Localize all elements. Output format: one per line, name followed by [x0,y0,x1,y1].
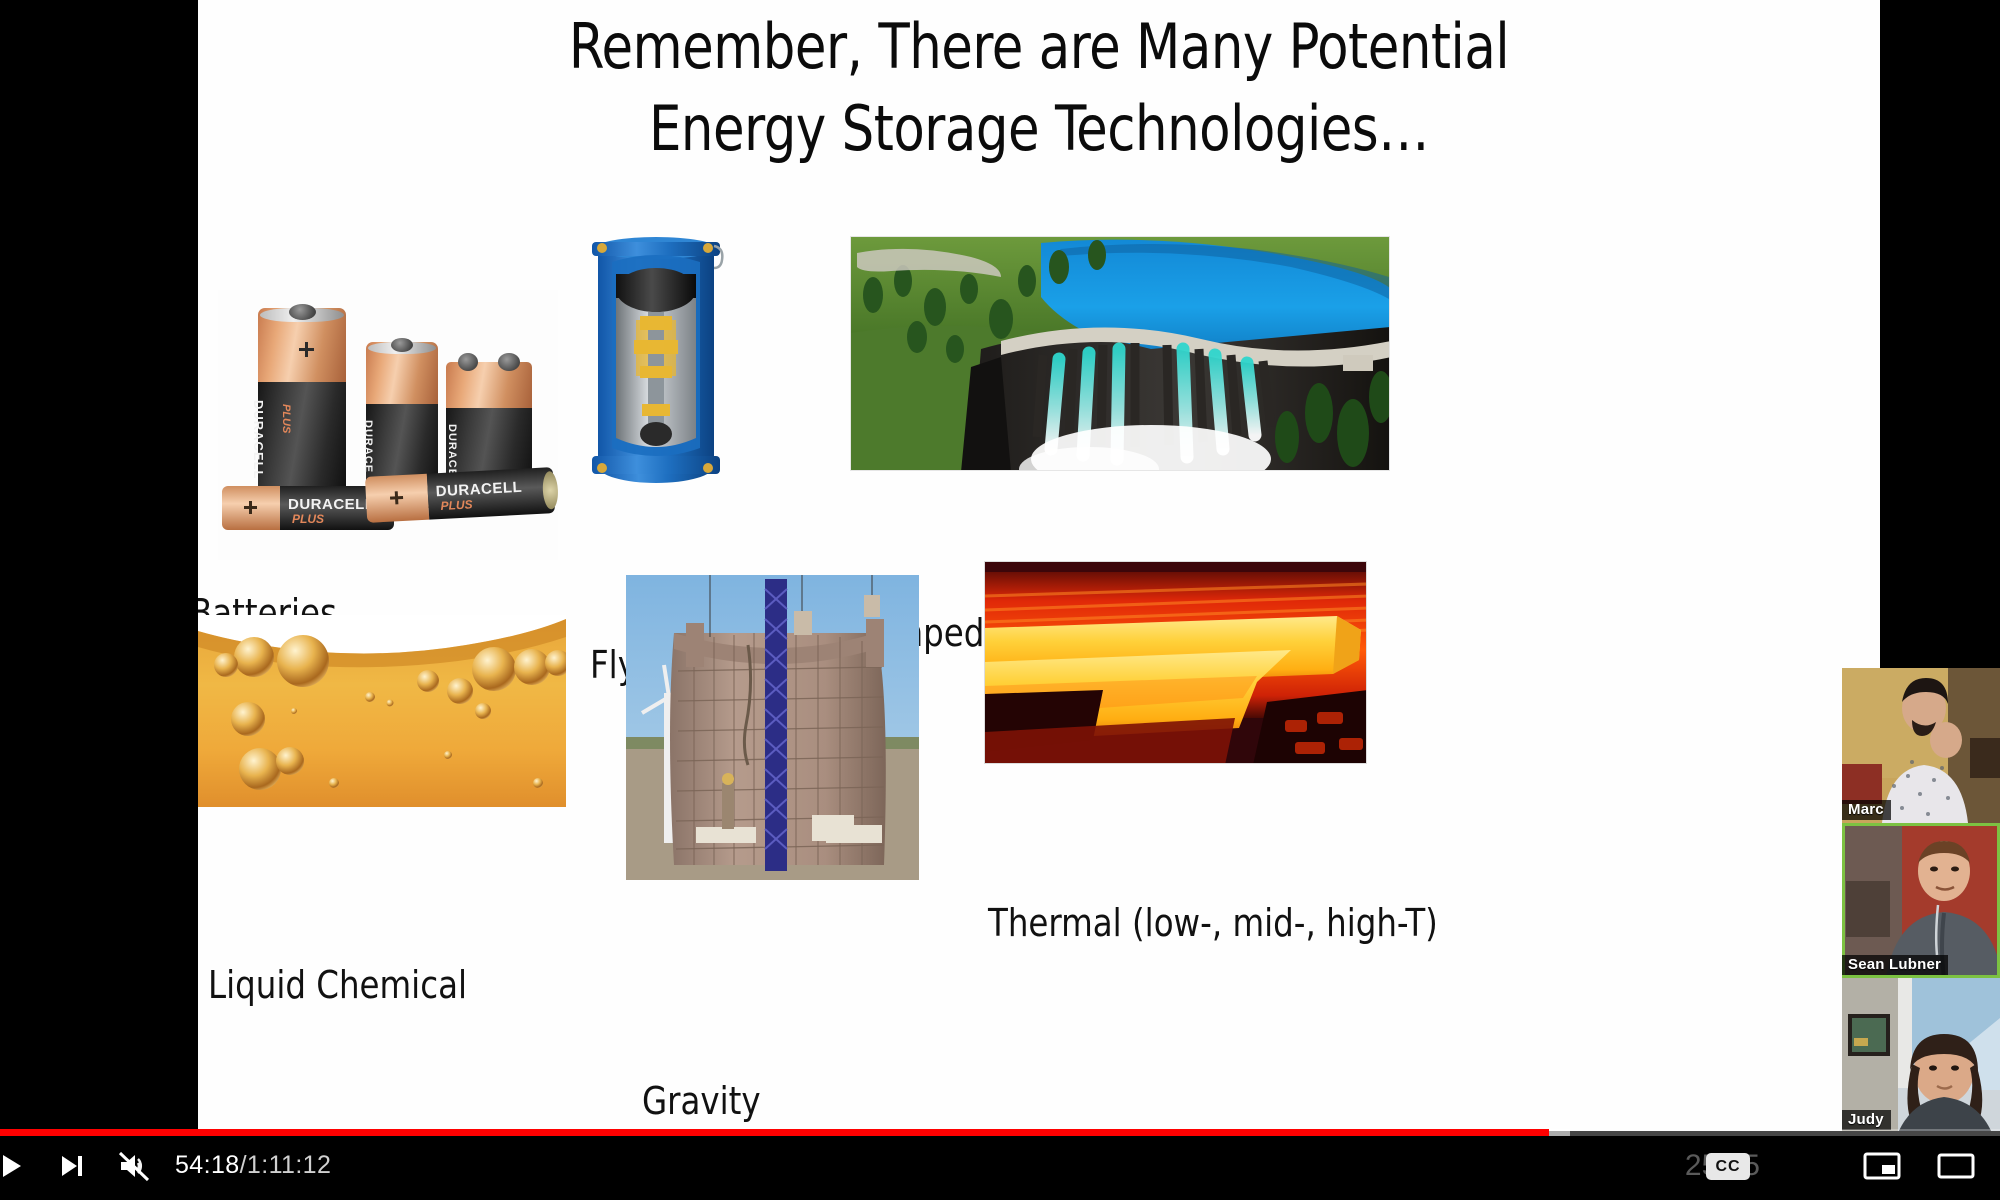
cc-label: CC [1715,1158,1740,1176]
closed-captions-button[interactable]: CC [1706,1153,1750,1180]
time-display: 54:18 / 1:11:12 [175,1131,331,1200]
next-video-button[interactable] [42,1131,100,1200]
flywheel-image [586,228,726,493]
theater-mode-icon [1937,1151,1975,1181]
theater-mode-button[interactable] [1926,1131,1986,1200]
total-time: 1:11:12 [247,1151,331,1180]
video-player-stage: Remember, There are Many Potential Energ… [0,0,2000,1200]
mute-volume-button[interactable] [104,1131,162,1200]
oil-photo-svg [198,615,566,807]
thermal-image [984,561,1367,764]
play-icon [0,1149,28,1183]
gravity-tower-svg [626,575,919,880]
participant-name-label: Judy [1842,1110,1891,1130]
participant-tiles: Marc Sean Lubner [1842,668,2000,1132]
caption-gravity: Gravity [642,1078,761,1124]
next-track-icon [54,1149,88,1183]
miniplayer-button[interactable] [1852,1131,1912,1200]
time-separator: / [240,1151,247,1180]
participant-tile-marc[interactable]: Marc [1842,668,2000,823]
slide-title: Remember, There are Many Potential Energ… [265,6,1812,171]
volume-muted-icon [115,1148,151,1184]
battery-brand-label: DURACELL [251,400,266,480]
presentation-slide: Remember, There are Many Potential Energ… [198,0,1880,1131]
gravity-storage-image [626,575,919,880]
participant-name-label: Marc [1842,800,1891,820]
liquid-chemical-image [198,615,566,807]
player-control-bar: 54:18 / 1:11:12 25/25 CC [0,1131,2000,1200]
batteries-image: DURACELL PLUS DURACE DURACE [218,290,558,560]
battery-sub-label: PLUS [280,404,292,433]
flywheel-diagram-svg [586,228,726,493]
participant-name-label: Sean Lubner [1842,955,1948,975]
current-time: 54:18 [175,1151,240,1180]
miniplayer-icon [1863,1151,1901,1181]
gear-icon [1790,1148,1826,1184]
dam-photo-svg [851,237,1390,471]
participant-tile-judy[interactable]: Judy [1842,978,2000,1133]
caption-liquid-chemical: Liquid Chemical [208,962,467,1008]
play-pause-button[interactable] [0,1131,40,1200]
caption-thermal: Thermal (low-, mid-, high-T) [988,900,1438,946]
participant-tile-sean-lubner[interactable]: Sean Lubner [1842,823,2000,978]
pumped-hydro-image [850,236,1390,471]
settings-gear-button[interactable] [1778,1131,1838,1200]
glowing-steel-svg [985,562,1367,764]
